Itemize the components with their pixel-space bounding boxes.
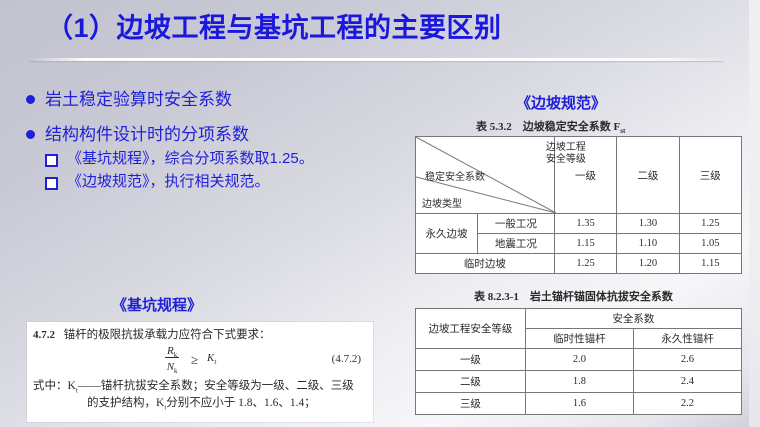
table2-r1c1: 2.0 xyxy=(525,349,633,371)
slide-right-edge-strip xyxy=(749,0,760,427)
title-divider xyxy=(30,58,723,61)
table2-grade-3: 三级 xyxy=(416,393,526,415)
formula-right-term: Kt xyxy=(207,352,216,366)
bullet-item-2b-label: 《边坡规范》，执行相关规范。 xyxy=(67,171,270,192)
bullet-item-2a-label: 《基坑规程》，综合分项系数取1.25。 xyxy=(67,148,314,169)
table1-col-grade-2: 二级 xyxy=(617,137,679,214)
table1-r2c3: 1.05 xyxy=(679,234,741,254)
scanned-excerpt-jikeng: 4.7.2 锚杆的极限抗拔承载力应符合下式要求： Rk Nk ≥ Kt (4.7… xyxy=(27,322,373,422)
table-row: 一级 2.0 2.6 xyxy=(416,349,742,371)
table1-condition-normal: 一般工况 xyxy=(477,214,554,234)
bullet-item-1: 岩土稳定验算时安全系数 xyxy=(22,88,402,111)
table1-group-temporary: 临时边坡 xyxy=(416,254,555,274)
table-row-header: 边坡工程 安全等级 稳定安全系数 边坡类型 一级 二级 三级 xyxy=(416,137,742,214)
formula-fraction: Rk Nk xyxy=(165,345,179,377)
table2-grade-1: 一级 xyxy=(416,349,526,371)
bullet-item-2: 结构构件设计时的分项系数 《基坑规程》，综合分项系数取1.25。 《边坡规范》，… xyxy=(22,123,402,192)
filled-circle-bullet-icon xyxy=(26,95,35,104)
page-title: （1）边坡工程与基坑工程的主要区别 xyxy=(46,6,502,45)
formula-number: (4.7.2) xyxy=(332,353,361,365)
bullet-item-1-label: 岩土稳定验算时安全系数 xyxy=(45,88,232,111)
table1-r1c3: 1.25 xyxy=(679,214,741,234)
caption-bianpo-guifan: 《边坡规范》 xyxy=(516,92,606,113)
excerpt-clause-text: 锚杆的极限抗拔承载力应符合下式要求： xyxy=(64,329,271,341)
table2-r3c2: 2.2 xyxy=(633,393,741,415)
caption-jikeng-guicheng: 《基坑规程》 xyxy=(112,294,202,315)
bullet-item-2a: 《基坑规程》，综合分项系数取1.25。 xyxy=(45,148,314,169)
table2-subheader-permanent: 永久性锚杆 xyxy=(633,329,741,349)
table2-grade-2: 二级 xyxy=(416,371,526,393)
excerpt-clause-line: 4.7.2 锚杆的极限抗拔承载力应符合下式要求： xyxy=(33,326,367,342)
formula-relation: ≥ xyxy=(191,352,198,368)
table2-col-header-grade: 边坡工程安全等级 xyxy=(416,309,526,349)
table1-header-factor-label: 稳定安全系数 xyxy=(425,168,485,183)
table1-col-grade-3: 三级 xyxy=(679,137,741,214)
table-row: 永久边坡 一般工况 1.35 1.30 1.25 xyxy=(416,214,742,234)
bullet-list: 岩土稳定验算时安全系数 结构构件设计时的分项系数 《基坑规程》，综合分项系数取1… xyxy=(22,88,402,204)
table1-caption: 表 5.3.2 边坡稳定安全系数 Fst xyxy=(476,118,625,135)
table1-r1c2: 1.30 xyxy=(617,214,679,234)
excerpt-note-line-2: 的支护结构，Kt分别不应小于 1.8、1.6、1.4； xyxy=(87,394,367,411)
table2-group-header: 安全系数 xyxy=(525,309,741,329)
hollow-square-bullet-icon xyxy=(45,154,58,167)
table2-caption: 表 8.2.3-1 岩土锚杆锚固体抗拔安全系数 xyxy=(474,288,673,304)
excerpt-note-line-1: 式中：Kt——锚杆抗拔安全系数；安全等级为一级、二级、三级 xyxy=(33,377,367,394)
formula-denominator: Nk xyxy=(167,361,178,373)
table1-r3c1: 1.25 xyxy=(554,254,616,274)
table2-r3c1: 1.6 xyxy=(525,393,633,415)
hollow-square-bullet-icon xyxy=(45,177,58,190)
table1-r2c1: 1.15 xyxy=(554,234,616,254)
table1-r2c2: 1.10 xyxy=(617,234,679,254)
slide-canvas: （1）边坡工程与基坑工程的主要区别 岩土稳定验算时安全系数 结构构件设计时的分项… xyxy=(0,0,760,427)
excerpt-clause-number: 4.7.2 xyxy=(33,329,55,341)
table2-r2c1: 1.8 xyxy=(525,371,633,393)
formula-numerator: Rk xyxy=(165,345,179,358)
table1-condition-seismic: 地震工况 xyxy=(477,234,554,254)
excerpt-formula: Rk Nk ≥ Kt (4.7.2) xyxy=(33,345,367,375)
table1-r1c1: 1.35 xyxy=(554,214,616,234)
table2-r2c2: 2.4 xyxy=(633,371,741,393)
table1-diagonal-header-cell: 边坡工程 安全等级 稳定安全系数 边坡类型 xyxy=(416,137,555,214)
bullet-item-2b: 《边坡规范》，执行相关规范。 xyxy=(45,171,314,192)
table-anchor-safety-factor: 边坡工程安全等级 安全系数 临时性锚杆 永久性锚杆 一级 2.0 2.6 二级 … xyxy=(415,308,742,415)
table2-subheader-temporary: 临时性锚杆 xyxy=(525,329,633,349)
table2-r1c2: 2.6 xyxy=(633,349,741,371)
table-row: 三级 1.6 2.2 xyxy=(416,393,742,415)
bullet-item-2-label: 结构构件设计时的分项系数 xyxy=(45,123,314,146)
table1-header-type-label: 边坡类型 xyxy=(422,195,462,210)
table1-group-permanent: 永久边坡 xyxy=(416,214,478,254)
table1-r3c2: 1.20 xyxy=(617,254,679,274)
table-bianpo-safety-factor: 边坡工程 安全等级 稳定安全系数 边坡类型 一级 二级 三级 永久边坡 一般工况… xyxy=(415,136,742,274)
table-row: 二级 1.8 2.4 xyxy=(416,371,742,393)
filled-circle-bullet-icon xyxy=(26,130,35,139)
table-row-header: 边坡工程安全等级 安全系数 xyxy=(416,309,742,329)
table1-r3c3: 1.15 xyxy=(679,254,741,274)
table-row: 临时边坡 1.25 1.20 1.15 xyxy=(416,254,742,274)
